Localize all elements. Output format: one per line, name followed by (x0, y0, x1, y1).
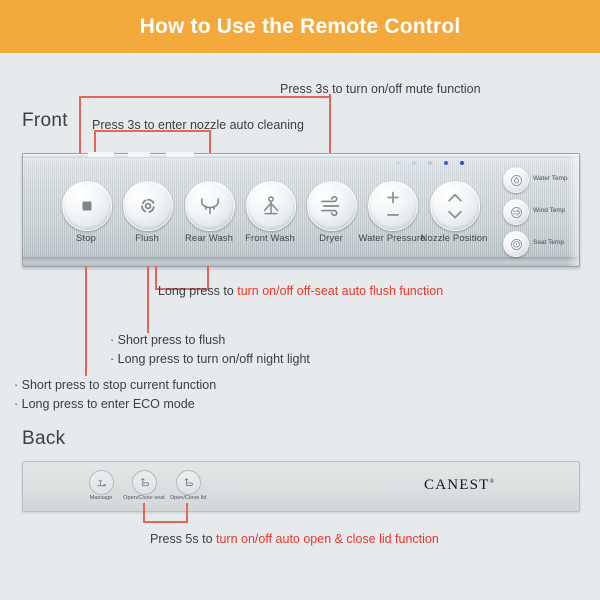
button-label-water-temp: Water Temp (533, 175, 568, 182)
page-title: How to Use the Remote Control (140, 15, 461, 39)
panel-lip-highlight (166, 152, 194, 157)
button-label-open-close-lid: Open/Close lid (165, 495, 211, 501)
button-label-rear-wash: Rear Wash (175, 233, 243, 244)
annotation-autoflush-prefix: Long press to (158, 284, 237, 298)
led-indicator-1 (396, 161, 400, 165)
button-open-close-lid[interactable] (176, 470, 201, 495)
annotation-lid-prefix: Press 5s to (150, 532, 216, 546)
connector-lid-left (143, 503, 145, 523)
button-flush[interactable] (123, 181, 173, 231)
led-indicator-4 (444, 161, 448, 165)
annotation-autoflush-highlight: turn on/off off-seat auto flush function (237, 284, 443, 298)
button-water-pressure[interactable] (368, 181, 418, 231)
seat-heat-icon (510, 238, 523, 251)
button-water-temp[interactable] (503, 167, 529, 193)
infographic-root: How to Use the Remote Control Press 3s t… (0, 0, 600, 600)
button-massage[interactable] (89, 470, 114, 495)
flush-swirl-icon (137, 195, 159, 217)
massage-icon (95, 476, 108, 489)
brand-name: CANEST (424, 477, 490, 493)
panel-lip-highlight (88, 152, 114, 157)
annotation-stop-short: · Short press to stop current function (14, 376, 216, 394)
brand-logo: CANEST® (424, 477, 495, 494)
annotation-flush-long: · Long press to turn on/off night light (110, 350, 310, 368)
lid-open-close-icon (182, 476, 195, 489)
annotation-lid: Press 5s to turn on/off auto open & clos… (150, 530, 439, 548)
button-label-nozzle-position: Nozzle Position (418, 233, 490, 244)
rear-wash-spray-icon (198, 195, 222, 217)
front-wash-spray-icon (260, 195, 282, 218)
led-indicator-2 (412, 161, 416, 165)
connector-stop-vertical (85, 266, 87, 376)
up-down-chevron-icon (444, 189, 466, 223)
connector-autoflush-left (155, 266, 157, 289)
button-dryer[interactable] (307, 181, 357, 231)
button-seat-temp[interactable] (503, 231, 529, 257)
led-indicator-3 (428, 161, 432, 165)
annotation-flush-short: · Short press to flush (110, 331, 225, 349)
stop-square-icon (79, 198, 95, 214)
button-label-seat-temp: Seat Temp (533, 239, 564, 246)
connector-nozzle-bottom-horizontal (94, 130, 210, 132)
led-indicator-5 (460, 161, 464, 165)
button-label-stop: Stop (52, 233, 120, 244)
panel-right-highlight (567, 154, 579, 266)
dryer-wind-icon (319, 195, 345, 217)
front-section-label: Front (22, 110, 68, 132)
button-label-water-pressure: Water Pressure (358, 233, 426, 244)
button-label-front-wash: Front Wash (236, 233, 304, 244)
connector-flush-vertical (147, 266, 149, 333)
panel-bottom-edge (23, 257, 579, 266)
plus-minus-icon (382, 189, 404, 223)
button-label-wind-temp: Wind Temp (533, 207, 565, 214)
connector-nozzle-top-horizontal (79, 96, 331, 98)
seat-open-close-icon (138, 476, 151, 489)
back-section-label: Back (22, 428, 65, 450)
button-stop[interactable] (62, 181, 112, 231)
annotation-autoflush: Long press to turn on/off off-seat auto … (158, 282, 443, 300)
connector-lid-right (186, 503, 188, 523)
button-label-open-close-seat: Open/Close seat (120, 495, 168, 501)
button-nozzle-position[interactable] (430, 181, 480, 231)
connector-lid-bottom (143, 521, 187, 523)
button-label-dryer: Dryer (297, 233, 365, 244)
annotation-lid-highlight: turn on/off auto open & close lid functi… (216, 532, 439, 546)
connector-mute-vertical (329, 94, 331, 162)
button-label-flush: Flush (113, 233, 181, 244)
panel-lip-highlight (128, 152, 150, 157)
button-open-close-seat[interactable] (132, 470, 157, 495)
button-front-wash[interactable] (246, 181, 296, 231)
button-label-massage: Massage (83, 495, 119, 501)
button-wind-temp[interactable] (503, 199, 529, 225)
water-drop-flame-icon (510, 174, 523, 187)
wind-arrow-icon (510, 206, 523, 219)
button-rear-wash[interactable] (185, 181, 235, 231)
header-banner: How to Use the Remote Control (0, 0, 600, 53)
annotation-stop-long: · Long press to enter ECO mode (14, 395, 195, 413)
brand-registered-mark: ® (490, 479, 496, 485)
